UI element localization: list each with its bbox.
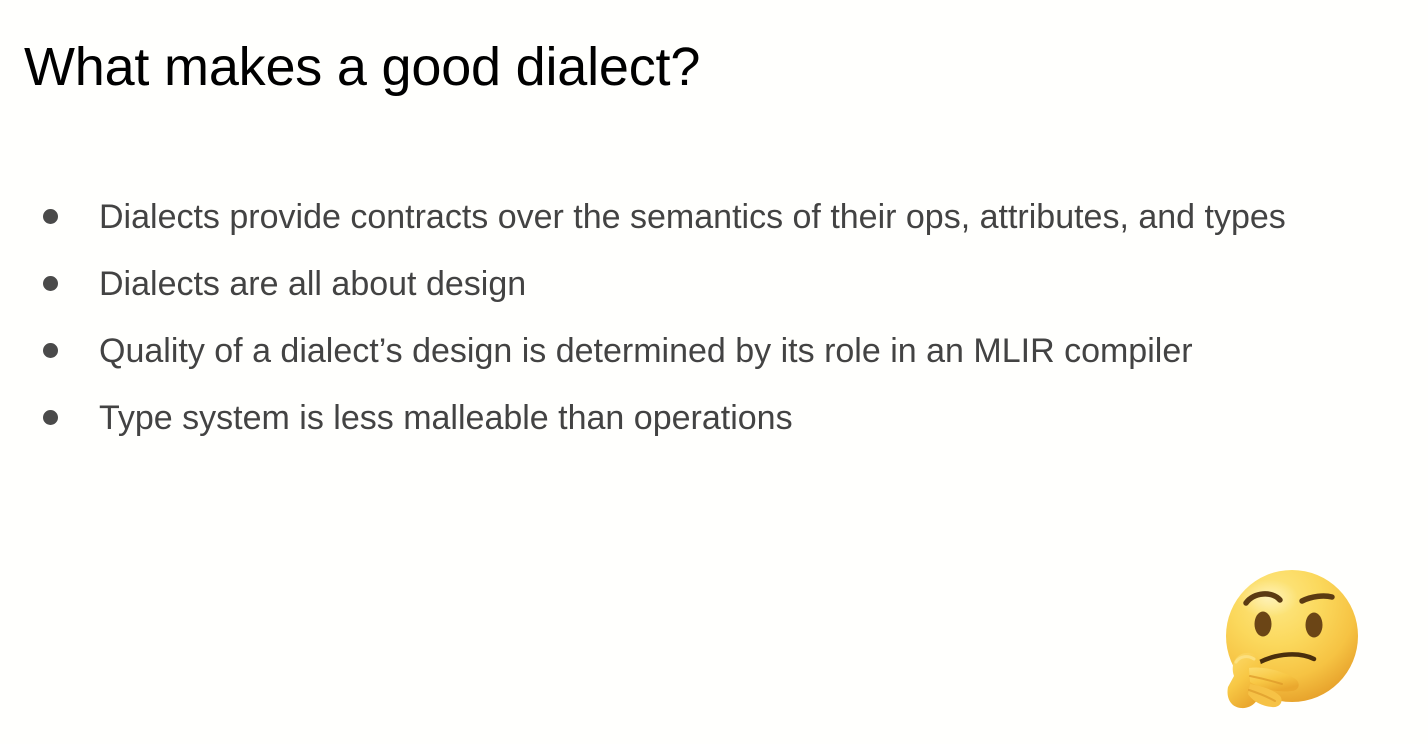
- slide-title: What makes a good dialect?: [24, 36, 700, 98]
- bullet-point-icon: [43, 343, 58, 358]
- bullet-list: Dialects provide contracts over the sema…: [24, 183, 1414, 451]
- list-item: Dialects provide contracts over the sema…: [24, 183, 1414, 250]
- bullet-text: Dialects provide contracts over the sema…: [99, 183, 1286, 250]
- bullet-point-icon: [43, 276, 58, 291]
- thinking-face-emoji: [1216, 566, 1364, 718]
- list-item: Dialects are all about design: [24, 250, 1414, 317]
- bullet-point-icon: [43, 410, 58, 425]
- list-item: Type system is less malleable than opera…: [24, 384, 1414, 451]
- bullet-text: Type system is less malleable than opera…: [99, 384, 793, 451]
- bullet-text: Dialects are all about design: [99, 250, 526, 317]
- slide-canvas: What makes a good dialect? Dialects prov…: [0, 0, 1428, 744]
- bullet-text: Quality of a dialect’s design is determi…: [99, 317, 1193, 384]
- bullet-point-icon: [43, 209, 58, 224]
- list-item: Quality of a dialect’s design is determi…: [24, 317, 1414, 384]
